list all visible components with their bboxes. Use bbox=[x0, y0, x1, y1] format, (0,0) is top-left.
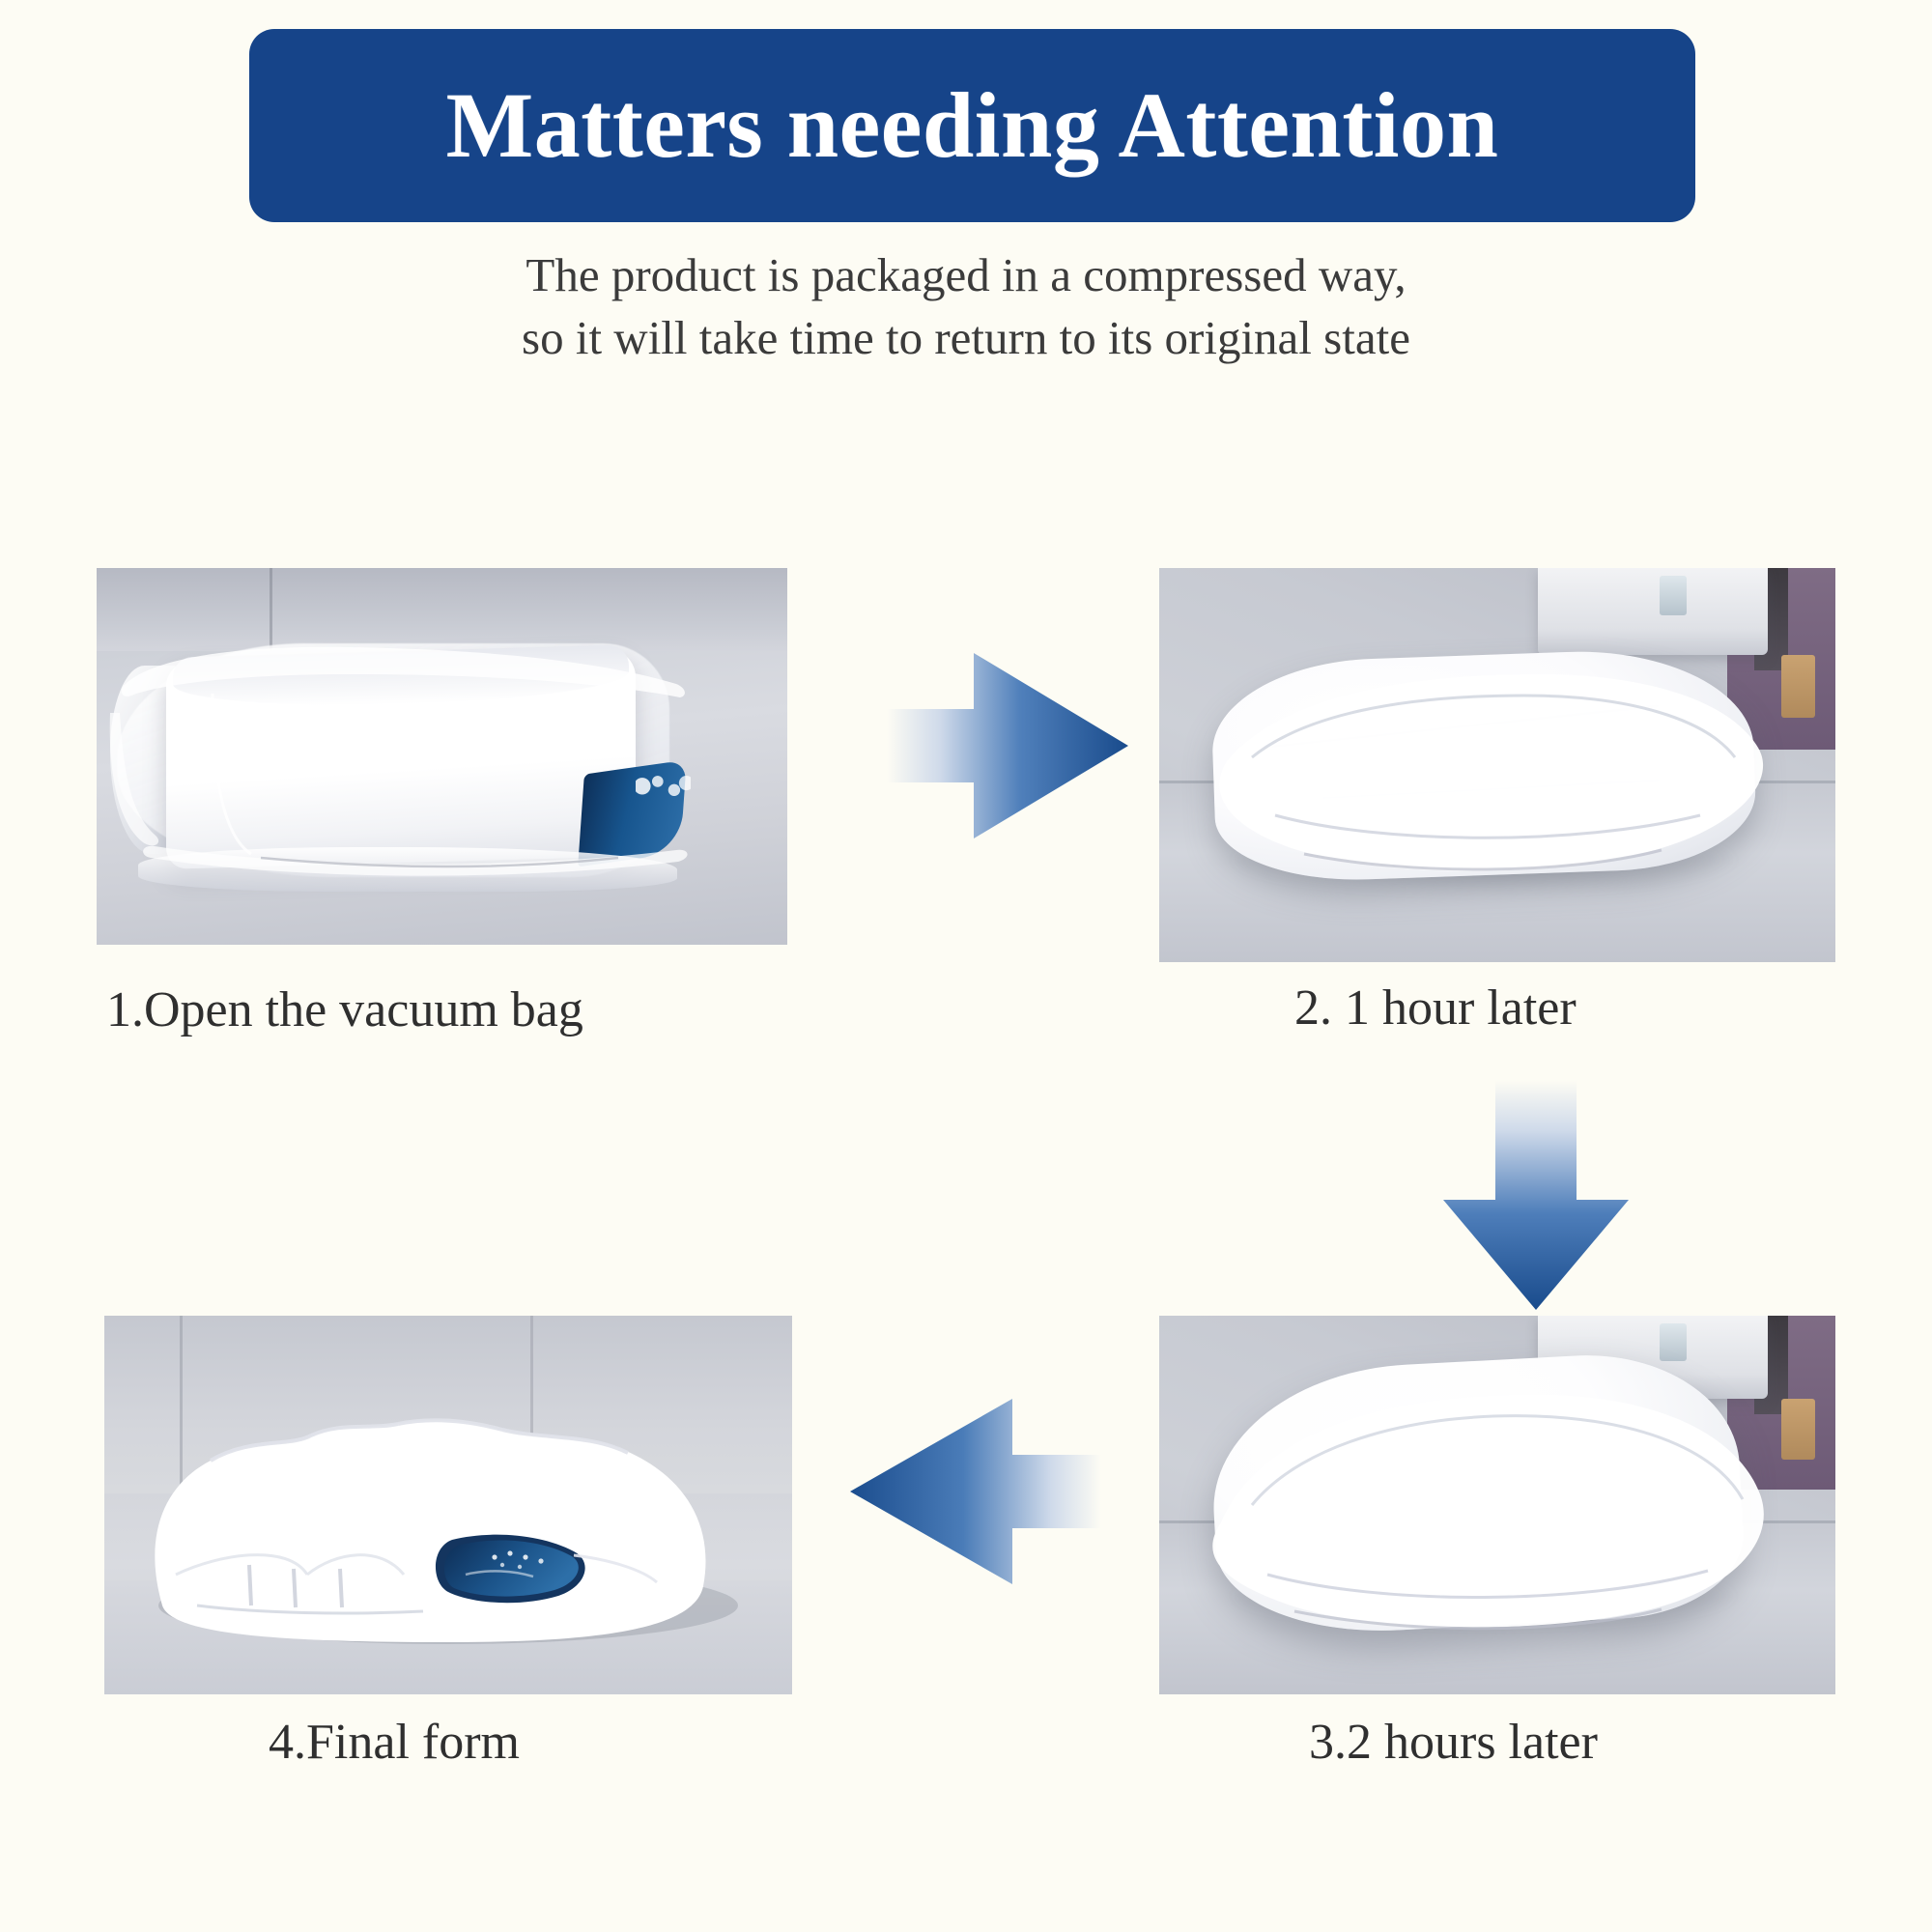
step-4-photo bbox=[104, 1316, 792, 1694]
step-4-overlay bbox=[104, 1316, 792, 1694]
infographic-page: Matters needing Attention The product is… bbox=[0, 0, 1932, 1932]
step-1-photo bbox=[97, 568, 787, 945]
step-3-overlay bbox=[1159, 1316, 1835, 1694]
subtitle: The product is packaged in a compressed … bbox=[0, 243, 1932, 369]
title-banner: Matters needing Attention bbox=[249, 29, 1695, 222]
step-2-caption: 2. 1 hour later bbox=[1294, 983, 1577, 1034]
arrow-step3-to-step4-icon bbox=[850, 1395, 1101, 1588]
step-1-caption: 1.Open the vacuum bag bbox=[106, 985, 583, 1036]
step-2-photo bbox=[1159, 568, 1835, 962]
subtitle-line-2: so it will take time to return to its or… bbox=[0, 306, 1932, 369]
subtitle-line-1: The product is packaged in a compressed … bbox=[0, 243, 1932, 306]
step-3-caption: 3.2 hours later bbox=[1309, 1718, 1598, 1768]
step-2-overlay bbox=[1159, 568, 1835, 962]
page-title: Matters needing Attention bbox=[446, 79, 1499, 172]
arrow-step2-to-step3-icon bbox=[1439, 1080, 1633, 1310]
step-3-photo bbox=[1159, 1316, 1835, 1694]
step-4-caption: 4.Final form bbox=[269, 1718, 520, 1768]
step-1-overlay bbox=[97, 568, 787, 945]
arrow-step1-to-step2-icon bbox=[887, 649, 1128, 842]
